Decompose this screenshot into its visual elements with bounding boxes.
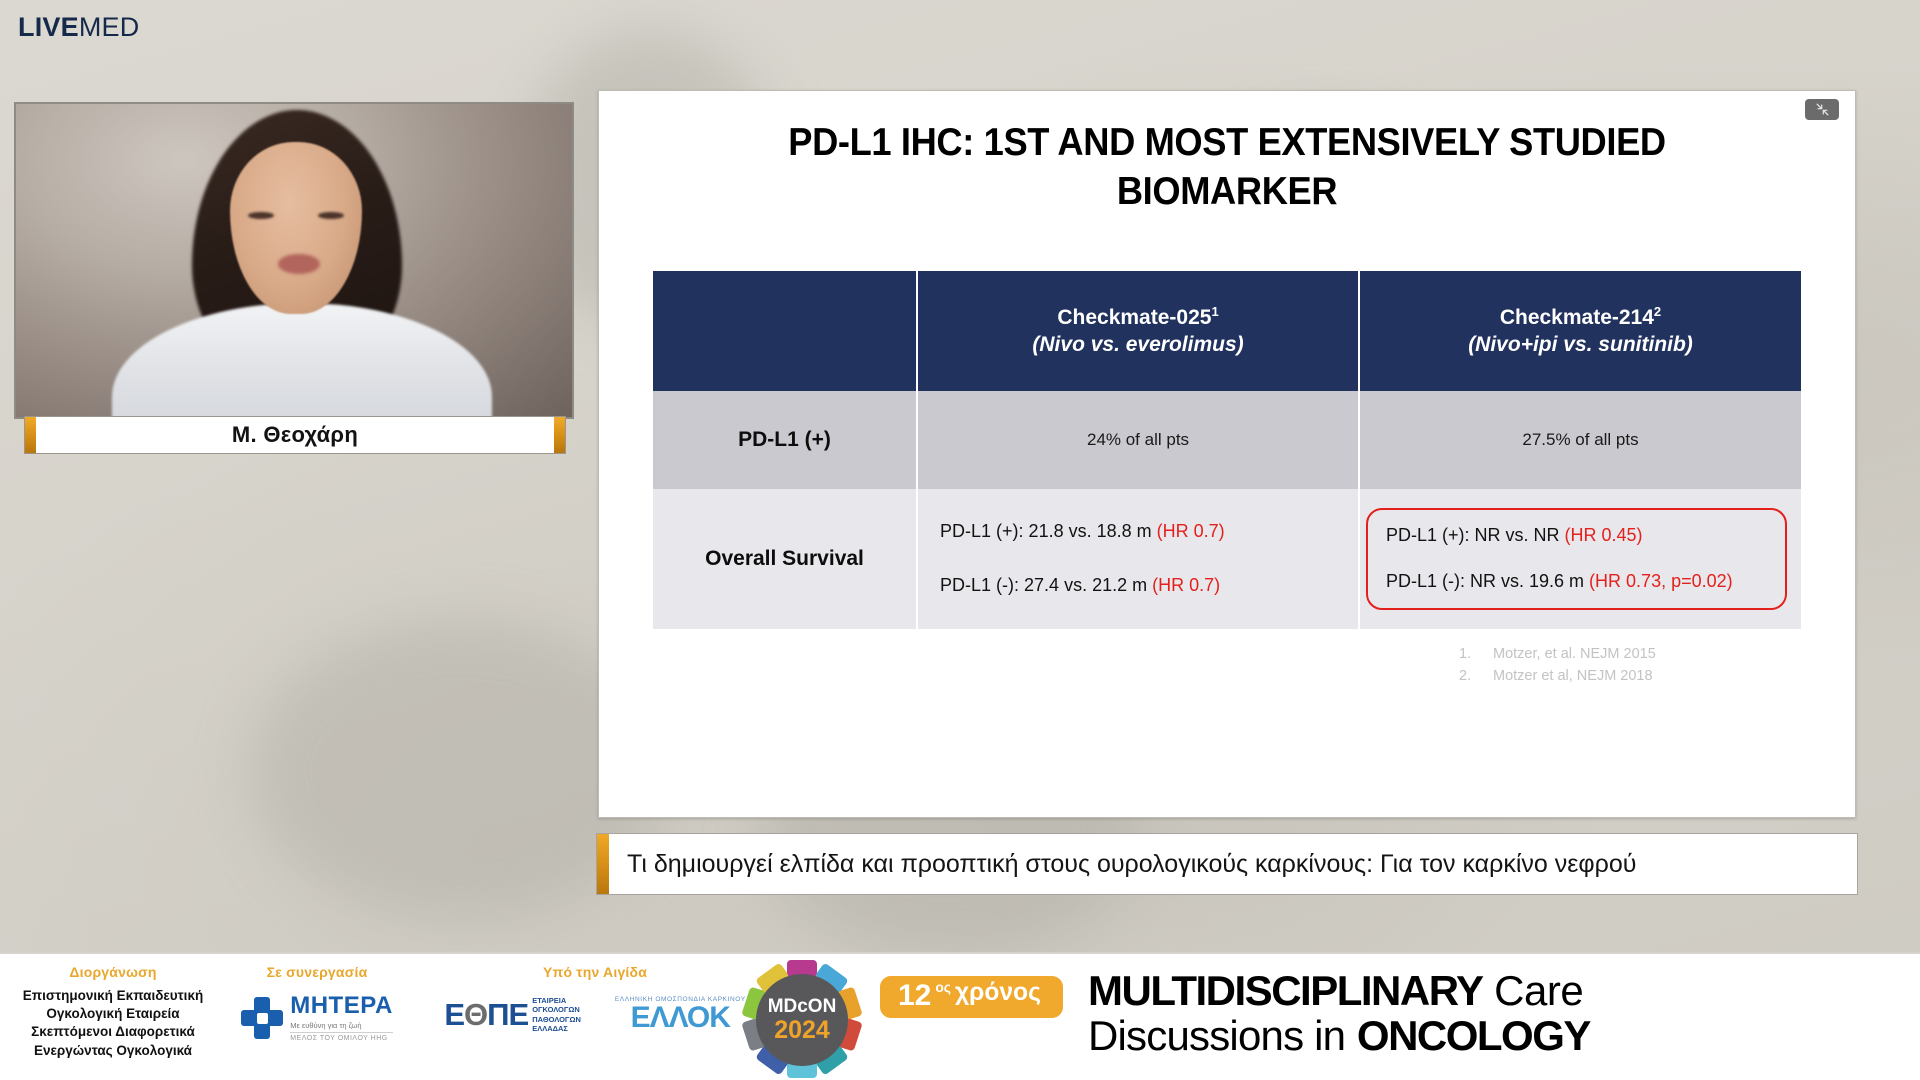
logo-live-text: LIVE <box>18 12 79 42</box>
biomarker-table: Checkmate-0251 (Nivo vs. everolimus) Che… <box>653 271 1801 629</box>
aegis-heading: Υπό την Αιγίδα <box>430 964 760 980</box>
livemed-logo[interactable]: LIVEMED <box>18 14 139 41</box>
eope-mark: ΕΘΠΕ <box>444 999 528 1030</box>
mitera-logo: MHTEPA Με ευθύνη για τη ζωή ΜΕΛΟΣ ΤΟΥ ΟΜ… <box>222 994 412 1042</box>
ellok-logo: ΕΛΛΗΝΙΚΗ ΟΜΟΣΠΟΝΔΙΑ ΚΑΡΚΙΝΟΥ ΕΛΛΟΚ <box>615 996 746 1033</box>
mdcon-badge-disc: MDcON 2024 <box>756 974 848 1066</box>
name-plate-accent-right <box>554 417 565 453</box>
mdcon-badge-name: MDcON <box>768 997 837 1016</box>
table-header-checkmate-025: Checkmate-0251 (Nivo vs. everolimus) <box>917 271 1359 391</box>
year-sup: ος <box>935 981 951 995</box>
table-row-pdl1-positive: PD-L1 (+) 24% of all pts 27.5% of all pt… <box>653 391 1801 489</box>
eope-logo: ΕΘΠΕ ΕΤΑΙΡΕΙΑ ΟΓΚΟΛΟΓΩΝ ΠΑΘΟΛΟΓΩΝ ΕΛΛΑΔΑ… <box>444 996 581 1034</box>
table-header-checkmate-214: Checkmate-2142 (Nivo+ipi vs. sunitinib) <box>1359 271 1801 391</box>
caption-text: Τι δημιουργεί ελπίδα και προοπτική στους… <box>609 850 1857 879</box>
cell-pdl1-positive-025: 24% of all pts <box>917 391 1359 489</box>
reference-item: 1. Motzer, et al. NEJM 2015 <box>1459 643 1819 665</box>
speaker-video-panel[interactable] <box>14 102 574 419</box>
logo-med-text: MED <box>79 12 140 42</box>
eope-subtitle: ΕΤΑΙΡΕΙΑ ΟΓΚΟΛΟΓΩΝ ΠΑΘΟΛΟΓΩΝ ΕΛΛΑΔΑΣ <box>532 996 581 1034</box>
footer-organizer: Διοργάνωση Επιστημονική Εκπαιδευτική Ογκ… <box>8 964 218 1060</box>
os-025-line-2: PD-L1 (-): 27.4 vs. 21.2 m (HR 0.7) <box>940 576 1358 596</box>
caption-accent-bar <box>597 834 609 894</box>
footer-aegis: Υπό την Αιγίδα ΕΘΠΕ ΕΤΑΙΡΕΙΑ ΟΓΚΟΛΟΓΩΝ Π… <box>430 964 760 1034</box>
cell-overall-survival-214: PD-L1 (+): NR vs. NR (HR 0.45) PD-L1 (-)… <box>1359 489 1801 629</box>
year-word: χρόνος <box>955 981 1041 1006</box>
wordmark-line-2: Discussions in ONCOLOGY <box>1088 1015 1590 1058</box>
slide-title: PD-L1 IHC: 1ST AND MOST EXTENSIVELY STUD… <box>716 119 1739 217</box>
os-214-line-2: PD-L1 (-): NR vs. 19.6 m (HR 0.73, p=0.0… <box>1386 572 1771 592</box>
slide-references: 1. Motzer, et al. NEJM 2015 2. Motzer et… <box>1459 643 1819 688</box>
speaker-name-plate: Μ. Θεοχάρη <box>24 416 566 454</box>
table-header-corner <box>653 271 917 391</box>
header-214-subtitle: (Nivo+ipi vs. sunitinib) <box>1370 332 1791 358</box>
speaker-mouth <box>278 254 320 274</box>
speaker-eye-right <box>318 212 344 219</box>
table-row-overall-survival: Overall Survival PD-L1 (+): 21.8 vs. 18.… <box>653 489 1801 629</box>
presentation-slide[interactable]: PD-L1 IHC: 1ST AND MOST EXTENSIVELY STUD… <box>598 90 1856 818</box>
cooperation-heading: Σε συνεργασία <box>222 964 412 980</box>
name-plate-accent-left <box>25 417 36 453</box>
footer-sponsor-bar: Διοργάνωση Επιστημονική Εκπαιδευτική Ογκ… <box>0 952 1920 1080</box>
cell-pdl1-positive-214: 27.5% of all pts <box>1359 391 1801 489</box>
header-025-title: Checkmate-025 <box>1057 306 1211 329</box>
session-caption-bar: Τι δημιουργεί ελπίδα και προοπτική στους… <box>596 833 1858 895</box>
speaker-name-label: Μ. Θεοχάρη <box>36 422 554 448</box>
mitera-member: ΜΕΛΟΣ ΤΟΥ ΟΜΙΛΟΥ HHG <box>290 1032 393 1042</box>
organizer-heading: Διοργάνωση <box>8 964 218 980</box>
speaker-video-feed <box>16 104 572 417</box>
organizer-name: Επιστημονική Εκπαιδευτική Ογκολογική Ετα… <box>8 987 218 1060</box>
header-025-subtitle: (Nivo vs. everolimus) <box>928 332 1348 358</box>
mdcon-badge-logo: MDcON 2024 <box>742 960 862 1078</box>
header-025-sup: 1 <box>1211 304 1218 319</box>
os-214-line-1: PD-L1 (+): NR vs. NR (HR 0.45) <box>1386 526 1771 546</box>
year-number: 12 <box>898 981 931 1011</box>
medical-cross-icon <box>241 997 283 1039</box>
cell-overall-survival-025: PD-L1 (+): 21.8 vs. 18.8 m (HR 0.7) PD-L… <box>917 489 1359 629</box>
row-label-overall-survival: Overall Survival <box>653 489 917 629</box>
wordmark-line-1: MULTIDISCIPLINARY Care <box>1088 970 1590 1013</box>
mitera-name: MHTEPA <box>290 994 393 1018</box>
mitera-tagline: Με ευθύνη για τη ζωή <box>290 1021 393 1030</box>
speaker-eye-left <box>248 212 274 219</box>
mdcon-badge-year: 2024 <box>774 1018 830 1043</box>
slide-collapse-button[interactable] <box>1805 99 1839 120</box>
event-year-badge: 12οςχρόνος <box>880 976 1063 1018</box>
header-214-title: Checkmate-214 <box>1500 306 1654 329</box>
os-025-line-1: PD-L1 (+): 21.8 vs. 18.8 m (HR 0.7) <box>940 522 1358 542</box>
row-label-pdl1-positive: PD-L1 (+) <box>653 391 917 489</box>
header-214-sup: 2 <box>1654 304 1661 319</box>
table-header-row: Checkmate-0251 (Nivo vs. everolimus) Che… <box>653 271 1801 391</box>
highlight-red-box: PD-L1 (+): NR vs. NR (HR 0.45) PD-L1 (-)… <box>1366 508 1787 610</box>
reference-item: 2. Motzer et al, NEJM 2018 <box>1459 665 1819 687</box>
speaker-shoulders <box>112 303 492 419</box>
footer-cooperation: Σε συνεργασία MHTEPA Με ευθύνη για τη ζω… <box>222 964 412 1042</box>
collapse-arrows-icon <box>1816 103 1829 116</box>
ellok-mark: ΕΛΛΟΚ <box>615 1003 746 1033</box>
